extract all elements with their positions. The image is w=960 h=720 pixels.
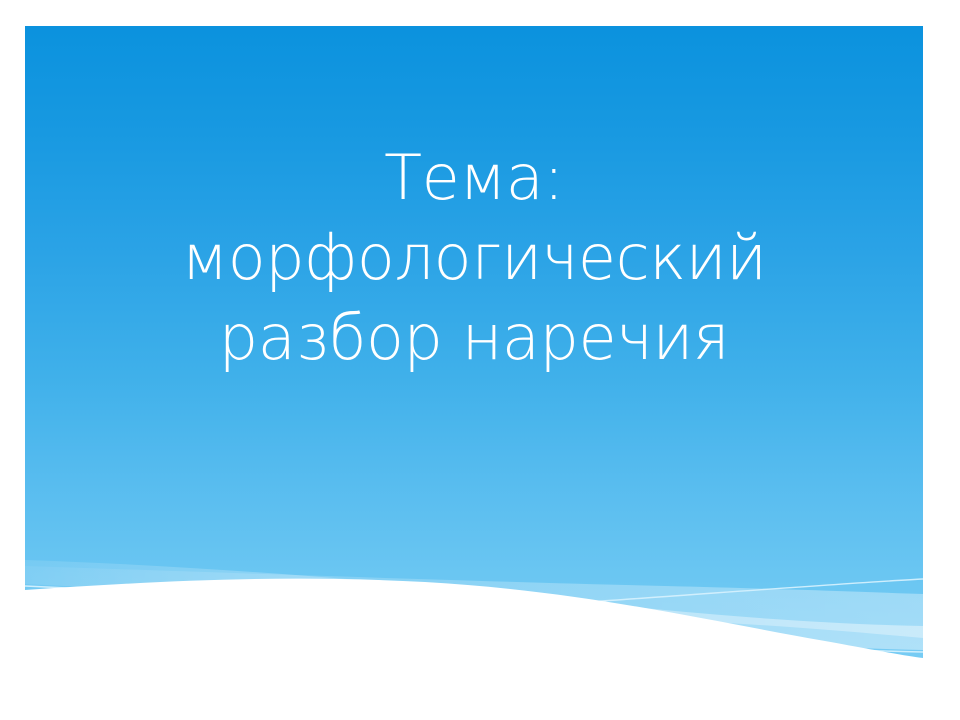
slide[interactable]: Тема: морфологический разбор наречия [25,26,923,694]
title-line-2: морфологический [85,218,863,298]
slide-title[interactable]: Тема: морфологический разбор наречия [85,138,863,378]
wave-band-light-2 [25,560,923,650]
wave-band-light [25,566,923,638]
title-line-1: Тема: [85,138,863,218]
wave-line-falling [25,586,923,652]
wave-crest-highlight [25,581,923,659]
slide-canvas: Тема: морфологический разбор наречия [0,0,960,720]
bottom-wave-white [25,579,923,694]
title-line-3: разбор наречия [85,298,863,378]
wave-line-rising [25,579,923,640]
